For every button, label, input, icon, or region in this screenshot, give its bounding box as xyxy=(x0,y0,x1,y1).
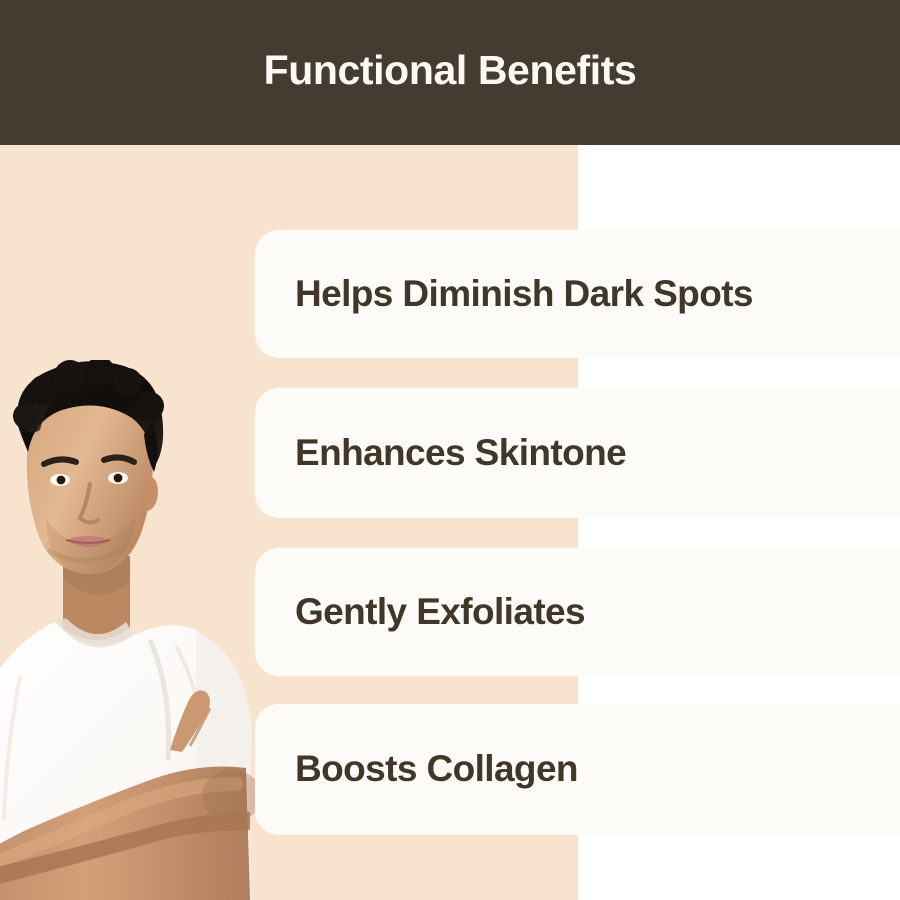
page-title: Functional Benefits xyxy=(264,50,637,95)
benefit-card[interactable]: Enhances Skintone xyxy=(255,388,900,518)
benefit-label: Helps Diminish Dark Spots xyxy=(295,275,753,314)
benefits-infographic: Functional Benefits xyxy=(0,0,900,900)
benefit-card[interactable]: Gently Exfoliates xyxy=(255,548,900,676)
benefit-label: Boosts Collagen xyxy=(295,750,578,789)
benefit-card[interactable]: Helps Diminish Dark Spots xyxy=(255,230,900,358)
header-bar: Functional Benefits xyxy=(0,0,900,145)
benefit-card[interactable]: Boosts Collagen xyxy=(255,704,900,835)
benefit-label: Enhances Skintone xyxy=(295,434,626,473)
content-area: Helps Diminish Dark Spots Enhances Skint… xyxy=(0,145,900,900)
benefit-label: Gently Exfoliates xyxy=(295,593,585,632)
